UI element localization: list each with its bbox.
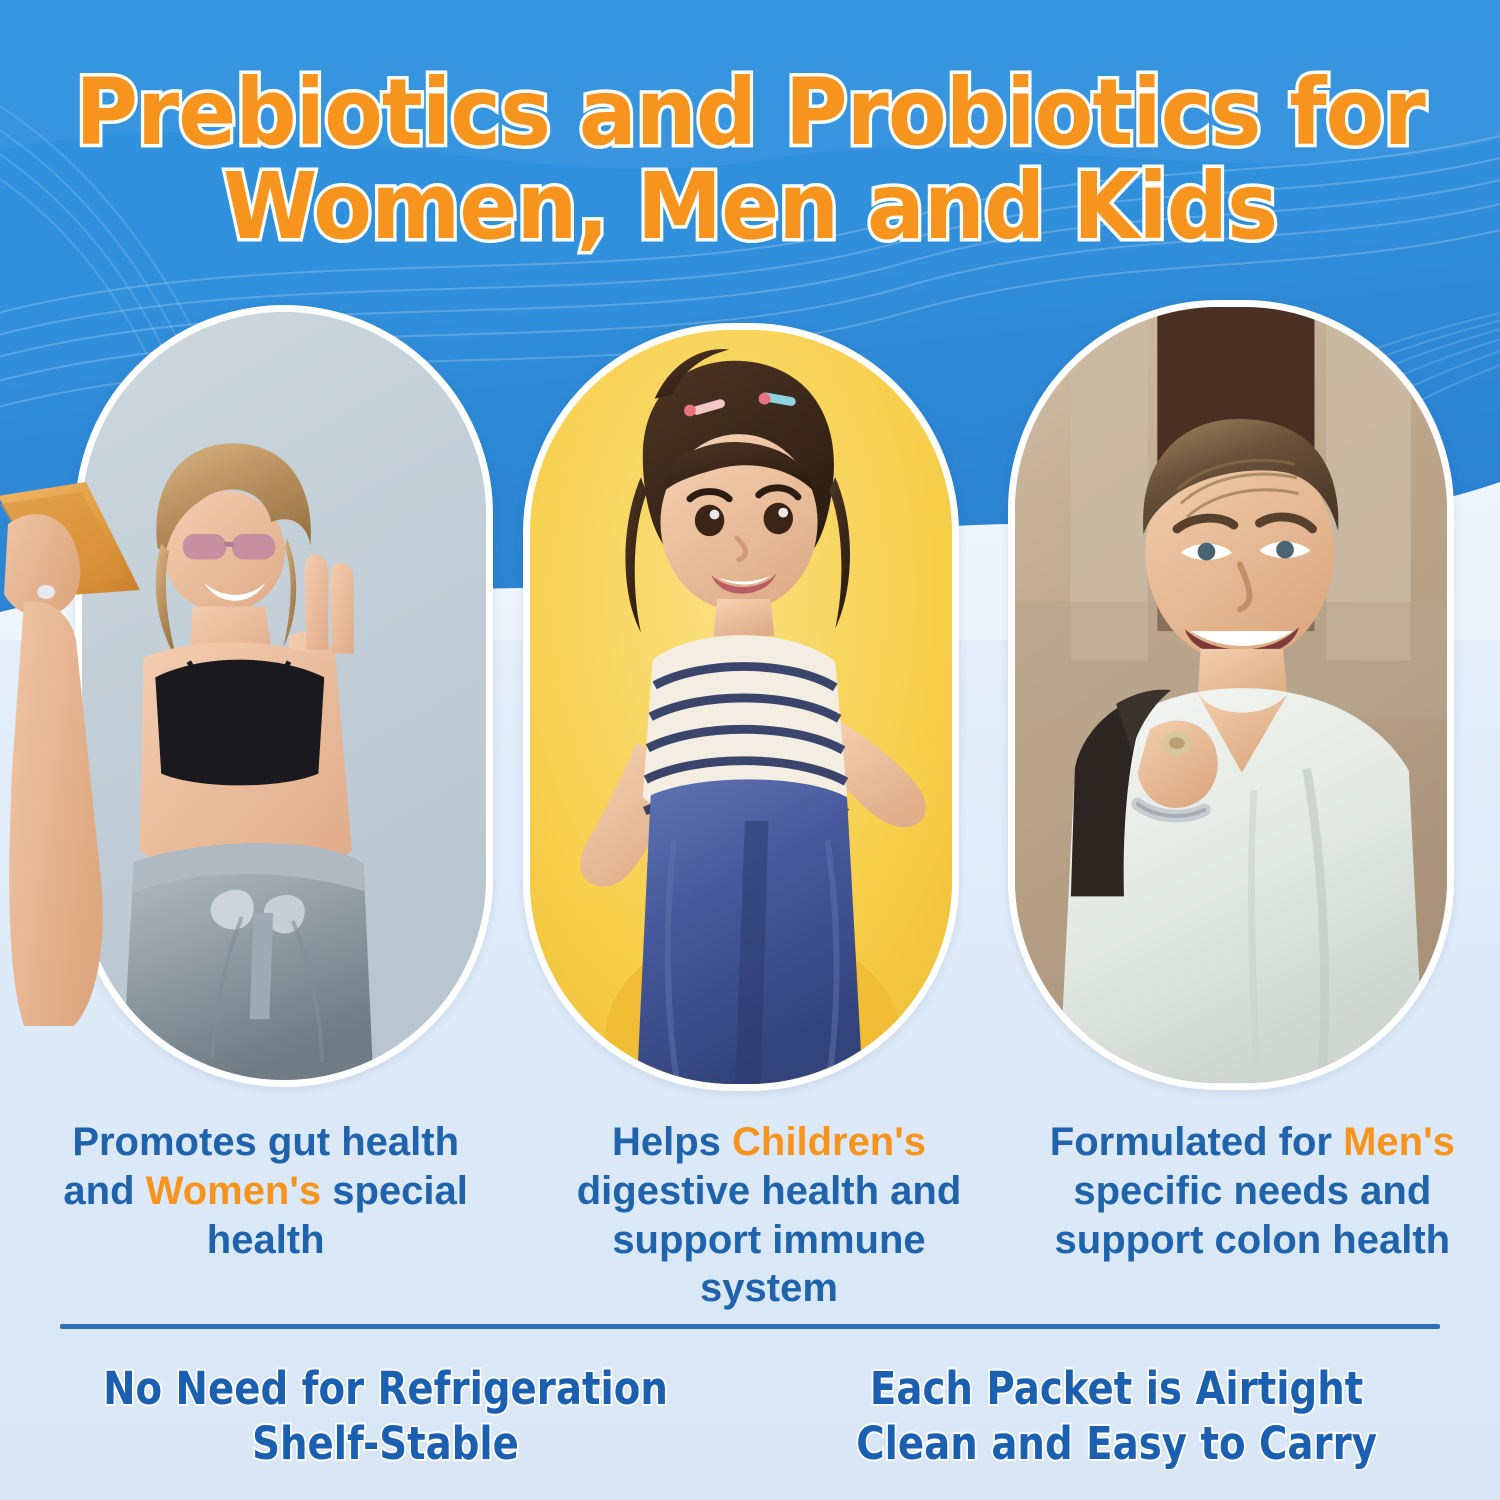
photo-kids xyxy=(530,330,952,1084)
caption-women-highlight: Women's xyxy=(146,1169,321,1213)
caption-women: Promotes gut health and Women's special … xyxy=(0,1118,535,1278)
caption-kids-highlight: Children's xyxy=(732,1120,926,1164)
caption-men: Formulated for Men's specific needs and … xyxy=(1003,1118,1500,1278)
photo-men xyxy=(1015,307,1447,1083)
page-title: Prebiotics and Probiotics for Women, Men… xyxy=(53,66,1448,254)
caption-men-pre: Formulated for xyxy=(1050,1120,1343,1164)
product-infographic: Prebiotics and Probiotics for Women, Men… xyxy=(0,0,1500,1500)
caption-kids: Helps Children's digestive health and su… xyxy=(535,1118,1002,1278)
photo-card-men xyxy=(1008,300,1454,1090)
feature-captions: Promotes gut health and Women's special … xyxy=(0,1118,1500,1278)
caption-men-post: specific needs and support colon health xyxy=(1055,1169,1451,1262)
caption-kids-pre: Helps xyxy=(612,1120,732,1164)
product-claims: No Need for Refrigeration Shelf-Stable E… xyxy=(0,1350,1500,1490)
claim-refrigeration: No Need for Refrigeration Shelf-Stable xyxy=(63,1350,708,1472)
photo-women-overflow-arm xyxy=(0,470,220,1030)
section-divider xyxy=(60,1324,1440,1329)
claim-packet: Each Packet is Airtight Clean and Easy t… xyxy=(794,1350,1439,1472)
photo-card-kids xyxy=(523,323,959,1091)
caption-men-highlight: Men's xyxy=(1343,1120,1455,1164)
